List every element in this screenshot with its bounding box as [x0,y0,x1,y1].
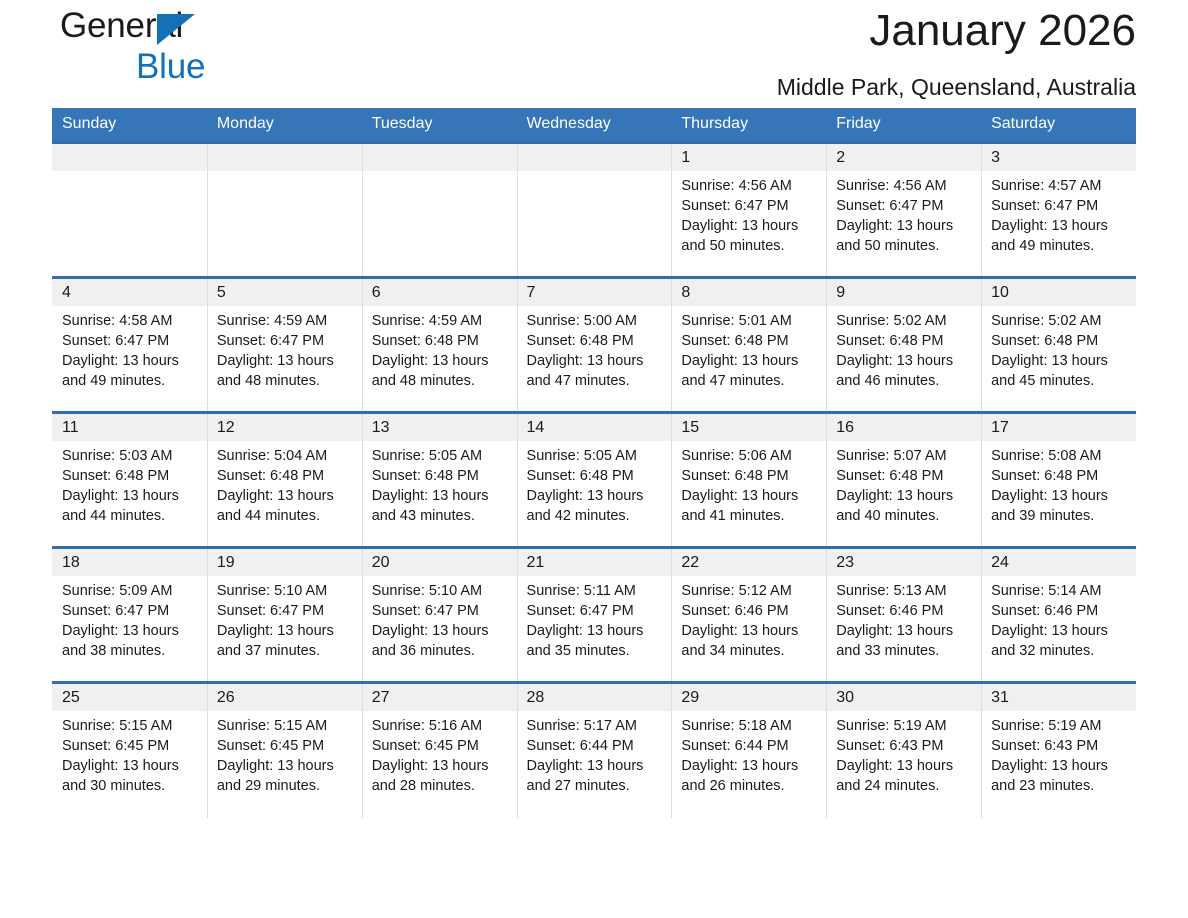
day-details: Sunrise: 5:05 AMSunset: 6:48 PMDaylight:… [362,441,517,526]
day-details: Sunrise: 5:02 AMSunset: 6:48 PMDaylight:… [981,306,1136,391]
calendar-day-cell[interactable]: 22Sunrise: 5:12 AMSunset: 6:46 PMDayligh… [671,548,826,683]
day-number [207,144,362,171]
calendar-day-cell[interactable]: 8Sunrise: 5:01 AMSunset: 6:48 PMDaylight… [671,278,826,413]
daylight-duration-line1: Daylight: 13 hours [991,756,1128,776]
daylight-duration-line1: Daylight: 13 hours [527,351,664,371]
day-number: 18 [52,549,207,576]
day-number: 23 [826,549,981,576]
day-number: 2 [826,144,981,171]
sunrise-time: Sunrise: 5:05 AM [527,446,664,466]
sunrise-time: Sunrise: 5:08 AM [991,446,1128,466]
sunrise-time: Sunrise: 5:02 AM [836,311,973,331]
day-details: Sunrise: 4:56 AMSunset: 6:47 PMDaylight:… [826,171,981,256]
day-number: 16 [826,414,981,441]
calendar-day-cell[interactable]: 30Sunrise: 5:19 AMSunset: 6:43 PMDayligh… [826,683,981,818]
daylight-duration-line2: and 48 minutes. [217,371,354,391]
daylight-duration-line2: and 50 minutes. [836,236,973,256]
sunrise-time: Sunrise: 5:10 AM [372,581,509,601]
day-number: 31 [981,684,1136,711]
daylight-duration-line1: Daylight: 13 hours [372,486,509,506]
daylight-duration-line2: and 38 minutes. [62,641,199,661]
calendar-day-cell[interactable]: 11Sunrise: 5:03 AMSunset: 6:48 PMDayligh… [52,413,207,548]
sunrise-time: Sunrise: 4:59 AM [372,311,509,331]
sunset-time: Sunset: 6:47 PM [217,331,354,351]
day-details: Sunrise: 5:15 AMSunset: 6:45 PMDaylight:… [207,711,362,796]
sunset-time: Sunset: 6:48 PM [836,466,973,486]
calendar-day-cell[interactable]: 26Sunrise: 5:15 AMSunset: 6:45 PMDayligh… [207,683,362,818]
daylight-duration-line2: and 28 minutes. [372,776,509,796]
calendar-day-cell[interactable]: 29Sunrise: 5:18 AMSunset: 6:44 PMDayligh… [671,683,826,818]
daylight-duration-line1: Daylight: 13 hours [527,486,664,506]
daylight-duration-line1: Daylight: 13 hours [681,621,818,641]
calendar-header-row: Sunday Monday Tuesday Wednesday Thursday… [52,108,1136,143]
generalblue-logo[interactable]: General Blue [60,8,320,88]
sunset-time: Sunset: 6:48 PM [991,466,1128,486]
sunset-time: Sunset: 6:48 PM [991,331,1128,351]
daylight-duration-line1: Daylight: 13 hours [62,486,199,506]
day-details: Sunrise: 5:17 AMSunset: 6:44 PMDaylight:… [517,711,672,796]
calendar-week-row: 4Sunrise: 4:58 AMSunset: 6:47 PMDaylight… [52,278,1136,413]
daylight-duration-line1: Daylight: 13 hours [681,486,818,506]
day-details: Sunrise: 5:01 AMSunset: 6:48 PMDaylight:… [671,306,826,391]
day-number: 26 [207,684,362,711]
daylight-duration-line1: Daylight: 13 hours [681,756,818,776]
day-details: Sunrise: 5:03 AMSunset: 6:48 PMDaylight:… [52,441,207,526]
day-number: 29 [671,684,826,711]
daylight-duration-line2: and 47 minutes. [681,371,818,391]
day-number: 11 [52,414,207,441]
sunrise-time: Sunrise: 4:56 AM [836,176,973,196]
daylight-duration-line2: and 26 minutes. [681,776,818,796]
weekday-header-thursday: Thursday [671,108,826,143]
daylight-duration-line1: Daylight: 13 hours [527,621,664,641]
sunset-time: Sunset: 6:48 PM [527,466,664,486]
day-number: 14 [517,414,672,441]
day-details: Sunrise: 5:15 AMSunset: 6:45 PMDaylight:… [52,711,207,796]
sunrise-time: Sunrise: 5:06 AM [681,446,818,466]
day-details: Sunrise: 4:58 AMSunset: 6:47 PMDaylight:… [52,306,207,391]
daylight-duration-line1: Daylight: 13 hours [62,756,199,776]
calendar-day-cell[interactable]: 3Sunrise: 4:57 AMSunset: 6:47 PMDaylight… [981,143,1136,278]
daylight-duration-line2: and 33 minutes. [836,641,973,661]
weekday-header-saturday: Saturday [981,108,1136,143]
calendar-week-row: 11Sunrise: 5:03 AMSunset: 6:48 PMDayligh… [52,413,1136,548]
daylight-duration-line2: and 40 minutes. [836,506,973,526]
daylight-duration-line2: and 32 minutes. [991,641,1128,661]
day-number: 5 [207,279,362,306]
daylight-duration-line1: Daylight: 13 hours [991,621,1128,641]
weekday-header-sunday: Sunday [52,108,207,143]
sunrise-time: Sunrise: 5:12 AM [681,581,818,601]
sunset-time: Sunset: 6:46 PM [836,601,973,621]
day-details: Sunrise: 5:07 AMSunset: 6:48 PMDaylight:… [826,441,981,526]
page-header: General Blue January 2026 Middle Park, Q… [52,0,1136,100]
day-number [362,144,517,171]
sunrise-time: Sunrise: 5:15 AM [217,716,354,736]
daylight-duration-line1: Daylight: 13 hours [681,351,818,371]
calendar-day-cell[interactable]: 27Sunrise: 5:16 AMSunset: 6:45 PMDayligh… [362,683,517,818]
day-number: 13 [362,414,517,441]
sunrise-time: Sunrise: 5:14 AM [991,581,1128,601]
sun-times-calendar: Sunday Monday Tuesday Wednesday Thursday… [52,108,1136,818]
weekday-header-monday: Monday [207,108,362,143]
daylight-duration-line1: Daylight: 13 hours [372,351,509,371]
daylight-duration-line1: Daylight: 13 hours [836,351,973,371]
day-number: 27 [362,684,517,711]
day-details [52,171,207,176]
sunset-time: Sunset: 6:48 PM [681,331,818,351]
calendar-day-cell[interactable]: 15Sunrise: 5:06 AMSunset: 6:48 PMDayligh… [671,413,826,548]
daylight-duration-line1: Daylight: 13 hours [217,486,354,506]
daylight-duration-line2: and 29 minutes. [217,776,354,796]
sunset-time: Sunset: 6:43 PM [836,736,973,756]
daylight-duration-line2: and 34 minutes. [681,641,818,661]
day-number: 30 [826,684,981,711]
day-details [517,171,672,176]
day-details: Sunrise: 4:56 AMSunset: 6:47 PMDaylight:… [671,171,826,256]
sunrise-time: Sunrise: 4:56 AM [681,176,818,196]
sunset-time: Sunset: 6:47 PM [217,601,354,621]
sunset-time: Sunset: 6:47 PM [836,196,973,216]
daylight-duration-line2: and 46 minutes. [836,371,973,391]
day-details: Sunrise: 4:57 AMSunset: 6:47 PMDaylight:… [981,171,1136,256]
daylight-duration-line2: and 44 minutes. [217,506,354,526]
daylight-duration-line2: and 39 minutes. [991,506,1128,526]
day-details: Sunrise: 5:16 AMSunset: 6:45 PMDaylight:… [362,711,517,796]
sunrise-time: Sunrise: 5:13 AM [836,581,973,601]
day-number: 15 [671,414,826,441]
daylight-duration-line2: and 50 minutes. [681,236,818,256]
day-details: Sunrise: 5:00 AMSunset: 6:48 PMDaylight:… [517,306,672,391]
daylight-duration-line2: and 45 minutes. [991,371,1128,391]
calendar-body: 1Sunrise: 4:56 AMSunset: 6:47 PMDaylight… [52,143,1136,818]
daylight-duration-line1: Daylight: 13 hours [681,216,818,236]
day-number: 10 [981,279,1136,306]
day-number: 22 [671,549,826,576]
sunset-time: Sunset: 6:48 PM [681,466,818,486]
daylight-duration-line1: Daylight: 13 hours [836,756,973,776]
calendar-day-cell[interactable]: 16Sunrise: 5:07 AMSunset: 6:48 PMDayligh… [826,413,981,548]
calendar-day-cell[interactable]: 7Sunrise: 5:00 AMSunset: 6:48 PMDaylight… [517,278,672,413]
sunset-time: Sunset: 6:46 PM [681,601,818,621]
calendar-day-cell[interactable]: 5Sunrise: 4:59 AMSunset: 6:47 PMDaylight… [207,278,362,413]
day-number: 24 [981,549,1136,576]
daylight-duration-line2: and 41 minutes. [681,506,818,526]
day-number: 1 [671,144,826,171]
day-number: 12 [207,414,362,441]
calendar-day-cell[interactable]: 13Sunrise: 5:05 AMSunset: 6:48 PMDayligh… [362,413,517,548]
day-details: Sunrise: 5:08 AMSunset: 6:48 PMDaylight:… [981,441,1136,526]
location-subtitle: Middle Park, Queensland, Australia [777,74,1136,101]
daylight-duration-line1: Daylight: 13 hours [836,216,973,236]
daylight-duration-line1: Daylight: 13 hours [836,621,973,641]
day-number: 28 [517,684,672,711]
day-number [52,144,207,171]
day-details: Sunrise: 5:14 AMSunset: 6:46 PMDaylight:… [981,576,1136,661]
sunset-time: Sunset: 6:48 PM [372,466,509,486]
calendar-day-cell[interactable]: 2Sunrise: 4:56 AMSunset: 6:47 PMDaylight… [826,143,981,278]
calendar-day-cell[interactable]: 21Sunrise: 5:11 AMSunset: 6:47 PMDayligh… [517,548,672,683]
daylight-duration-line1: Daylight: 13 hours [217,756,354,776]
sunset-time: Sunset: 6:48 PM [836,331,973,351]
day-details: Sunrise: 5:10 AMSunset: 6:47 PMDaylight:… [207,576,362,661]
daylight-duration-line2: and 30 minutes. [62,776,199,796]
day-number [517,144,672,171]
day-details: Sunrise: 5:12 AMSunset: 6:46 PMDaylight:… [671,576,826,661]
calendar-day-cell-empty [362,143,517,278]
day-number: 3 [981,144,1136,171]
sunset-time: Sunset: 6:43 PM [991,736,1128,756]
weekday-header-tuesday: Tuesday [362,108,517,143]
day-number: 20 [362,549,517,576]
daylight-duration-line2: and 49 minutes. [991,236,1128,256]
sunrise-time: Sunrise: 4:59 AM [217,311,354,331]
calendar-day-cell-empty [517,143,672,278]
sunrise-time: Sunrise: 4:58 AM [62,311,199,331]
calendar-day-cell-empty [52,143,207,278]
sunrise-time: Sunrise: 5:04 AM [217,446,354,466]
sunrise-time: Sunrise: 5:16 AM [372,716,509,736]
calendar-day-cell[interactable]: 4Sunrise: 4:58 AMSunset: 6:47 PMDaylight… [52,278,207,413]
sunrise-time: Sunrise: 4:57 AM [991,176,1128,196]
calendar-day-cell[interactable]: 18Sunrise: 5:09 AMSunset: 6:47 PMDayligh… [52,548,207,683]
sunrise-time: Sunrise: 5:00 AM [527,311,664,331]
daylight-duration-line1: Daylight: 13 hours [372,756,509,776]
sunrise-time: Sunrise: 5:05 AM [372,446,509,466]
sunset-time: Sunset: 6:48 PM [217,466,354,486]
day-details [207,171,362,176]
sunrise-time: Sunrise: 5:09 AM [62,581,199,601]
daylight-duration-line2: and 43 minutes. [372,506,509,526]
day-details [362,171,517,176]
calendar-day-cell-empty [207,143,362,278]
logo-text-blue: Blue [136,49,320,89]
calendar-day-cell[interactable]: 24Sunrise: 5:14 AMSunset: 6:46 PMDayligh… [981,548,1136,683]
calendar-day-cell[interactable]: 6Sunrise: 4:59 AMSunset: 6:48 PMDaylight… [362,278,517,413]
daylight-duration-line2: and 23 minutes. [991,776,1128,796]
sunset-time: Sunset: 6:48 PM [62,466,199,486]
calendar-day-cell[interactable]: 14Sunrise: 5:05 AMSunset: 6:48 PMDayligh… [517,413,672,548]
daylight-duration-line1: Daylight: 13 hours [372,621,509,641]
sunrise-time: Sunrise: 5:17 AM [527,716,664,736]
daylight-duration-line2: and 47 minutes. [527,371,664,391]
sunrise-time: Sunrise: 5:19 AM [991,716,1128,736]
daylight-duration-line1: Daylight: 13 hours [991,216,1128,236]
sunset-time: Sunset: 6:47 PM [62,601,199,621]
daylight-duration-line1: Daylight: 13 hours [217,351,354,371]
sunset-time: Sunset: 6:47 PM [991,196,1128,216]
sunset-time: Sunset: 6:47 PM [681,196,818,216]
day-details: Sunrise: 5:04 AMSunset: 6:48 PMDaylight:… [207,441,362,526]
calendar-day-cell[interactable]: 20Sunrise: 5:10 AMSunset: 6:47 PMDayligh… [362,548,517,683]
triangle-icon [157,14,195,45]
day-details: Sunrise: 5:05 AMSunset: 6:48 PMDaylight:… [517,441,672,526]
weekday-header-friday: Friday [826,108,981,143]
sunrise-time: Sunrise: 5:07 AM [836,446,973,466]
day-details: Sunrise: 5:13 AMSunset: 6:46 PMDaylight:… [826,576,981,661]
day-number: 4 [52,279,207,306]
daylight-duration-line1: Daylight: 13 hours [991,351,1128,371]
day-number: 7 [517,279,672,306]
calendar-day-cell[interactable]: 12Sunrise: 5:04 AMSunset: 6:48 PMDayligh… [207,413,362,548]
calendar-week-row: 18Sunrise: 5:09 AMSunset: 6:47 PMDayligh… [52,548,1136,683]
calendar-day-cell[interactable]: 9Sunrise: 5:02 AMSunset: 6:48 PMDaylight… [826,278,981,413]
sunset-time: Sunset: 6:48 PM [372,331,509,351]
sunrise-time: Sunrise: 5:19 AM [836,716,973,736]
sunrise-time: Sunrise: 5:01 AM [681,311,818,331]
daylight-duration-line1: Daylight: 13 hours [62,621,199,641]
day-details: Sunrise: 5:10 AMSunset: 6:47 PMDaylight:… [362,576,517,661]
calendar-day-cell[interactable]: 10Sunrise: 5:02 AMSunset: 6:48 PMDayligh… [981,278,1136,413]
day-details: Sunrise: 5:09 AMSunset: 6:47 PMDaylight:… [52,576,207,661]
daylight-duration-line2: and 37 minutes. [217,641,354,661]
calendar-page: General Blue January 2026 Middle Park, Q… [0,0,1188,918]
sunset-time: Sunset: 6:44 PM [527,736,664,756]
sunrise-time: Sunrise: 5:15 AM [62,716,199,736]
day-details: Sunrise: 4:59 AMSunset: 6:47 PMDaylight:… [207,306,362,391]
weekday-header-wednesday: Wednesday [517,108,672,143]
daylight-duration-line1: Daylight: 13 hours [527,756,664,776]
daylight-duration-line2: and 35 minutes. [527,641,664,661]
daylight-duration-line2: and 42 minutes. [527,506,664,526]
sunrise-time: Sunrise: 5:18 AM [681,716,818,736]
daylight-duration-line1: Daylight: 13 hours [217,621,354,641]
daylight-duration-line2: and 49 minutes. [62,371,199,391]
daylight-duration-line2: and 36 minutes. [372,641,509,661]
day-details: Sunrise: 4:59 AMSunset: 6:48 PMDaylight:… [362,306,517,391]
day-number: 9 [826,279,981,306]
sunrise-time: Sunrise: 5:10 AM [217,581,354,601]
daylight-duration-line2: and 27 minutes. [527,776,664,796]
sunset-time: Sunset: 6:48 PM [527,331,664,351]
day-number: 8 [671,279,826,306]
calendar-day-cell[interactable]: 25Sunrise: 5:15 AMSunset: 6:45 PMDayligh… [52,683,207,818]
daylight-duration-line1: Daylight: 13 hours [836,486,973,506]
sunset-time: Sunset: 6:47 PM [62,331,199,351]
day-details: Sunrise: 5:19 AMSunset: 6:43 PMDaylight:… [981,711,1136,796]
sunset-time: Sunset: 6:45 PM [62,736,199,756]
calendar-week-row: 25Sunrise: 5:15 AMSunset: 6:45 PMDayligh… [52,683,1136,818]
daylight-duration-line2: and 48 minutes. [372,371,509,391]
sunset-time: Sunset: 6:47 PM [527,601,664,621]
sunrise-time: Sunrise: 5:02 AM [991,311,1128,331]
day-number: 25 [52,684,207,711]
day-number: 6 [362,279,517,306]
calendar-day-cell[interactable]: 17Sunrise: 5:08 AMSunset: 6:48 PMDayligh… [981,413,1136,548]
sunset-time: Sunset: 6:45 PM [372,736,509,756]
day-details: Sunrise: 5:11 AMSunset: 6:47 PMDaylight:… [517,576,672,661]
daylight-duration-line2: and 24 minutes. [836,776,973,796]
sunrise-time: Sunrise: 5:03 AM [62,446,199,466]
day-details: Sunrise: 5:02 AMSunset: 6:48 PMDaylight:… [826,306,981,391]
sunset-time: Sunset: 6:47 PM [372,601,509,621]
daylight-duration-line1: Daylight: 13 hours [991,486,1128,506]
calendar-day-cell[interactable]: 23Sunrise: 5:13 AMSunset: 6:46 PMDayligh… [826,548,981,683]
sunrise-time: Sunrise: 5:11 AM [527,581,664,601]
day-number: 19 [207,549,362,576]
day-number: 21 [517,549,672,576]
calendar-day-cell[interactable]: 19Sunrise: 5:10 AMSunset: 6:47 PMDayligh… [207,548,362,683]
page-title: January 2026 [869,6,1136,56]
day-details: Sunrise: 5:18 AMSunset: 6:44 PMDaylight:… [671,711,826,796]
calendar-day-cell[interactable]: 31Sunrise: 5:19 AMSunset: 6:43 PMDayligh… [981,683,1136,818]
daylight-duration-line1: Daylight: 13 hours [62,351,199,371]
sunset-time: Sunset: 6:45 PM [217,736,354,756]
day-number: 17 [981,414,1136,441]
calendar-week-row: 1Sunrise: 4:56 AMSunset: 6:47 PMDaylight… [52,143,1136,278]
day-details: Sunrise: 5:06 AMSunset: 6:48 PMDaylight:… [671,441,826,526]
day-details: Sunrise: 5:19 AMSunset: 6:43 PMDaylight:… [826,711,981,796]
calendar-day-cell[interactable]: 1Sunrise: 4:56 AMSunset: 6:47 PMDaylight… [671,143,826,278]
sunset-time: Sunset: 6:44 PM [681,736,818,756]
sunset-time: Sunset: 6:46 PM [991,601,1128,621]
daylight-duration-line2: and 44 minutes. [62,506,199,526]
calendar-day-cell[interactable]: 28Sunrise: 5:17 AMSunset: 6:44 PMDayligh… [517,683,672,818]
